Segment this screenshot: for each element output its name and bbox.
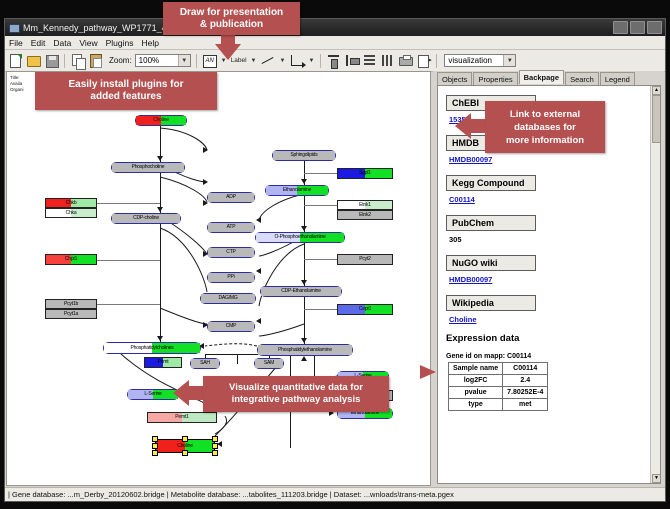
selection-handle[interactable] <box>182 436 188 442</box>
metabolite-node[interactable]: ATP <box>207 222 255 233</box>
callout-draw: Draw for presentation & publication <box>163 2 300 35</box>
line-chevron-down-icon[interactable]: ▼ <box>279 58 285 64</box>
node-label: Pcyt1a <box>64 312 78 317</box>
zoom-value: 100% <box>139 56 159 65</box>
open-folder-icon[interactable] <box>26 53 41 68</box>
scroll-down-icon[interactable]: ▼ <box>652 474 661 483</box>
gene-node[interactable]: Pemt1 <box>147 412 217 423</box>
side-panel: Objects Properties Backpage Search Legen… <box>433 71 664 486</box>
gene-node[interactable]: Chpt1 <box>45 254 97 265</box>
database-header: Wikipedia <box>446 295 536 311</box>
metabolite-node[interactable]: Phosphatidylethanolamine <box>257 344 353 356</box>
metabolite-node[interactable]: ADP <box>207 192 255 203</box>
backpage-scrollbar[interactable]: ▲ ▼ <box>650 86 660 483</box>
connector-cept1 <box>304 309 337 310</box>
tab-legend[interactable]: Legend <box>600 72 635 85</box>
toolbar-separator-4 <box>436 54 437 68</box>
gene-node[interactable]: Chka <box>45 208 97 218</box>
node-label: CTP <box>226 250 235 255</box>
close-button[interactable] <box>647 21 662 34</box>
node-label: Choline <box>153 118 169 123</box>
callout-link-text: Link to external databases for more info… <box>506 108 584 147</box>
visualization-value: visualization <box>448 56 492 65</box>
expression-data-heading: Expression data <box>446 333 651 344</box>
application-icon <box>8 22 19 33</box>
callout-draw-text: Draw for presentation & publication <box>180 7 283 31</box>
scrollbar-thumb[interactable] <box>652 95 661 143</box>
line-icon[interactable] <box>260 53 275 68</box>
node-label: ADP <box>226 195 236 200</box>
node-label: Phosphatidylethanolamine <box>278 348 332 353</box>
table-row: Sample nameC00114 <box>449 363 548 375</box>
arc-chevron-down-icon[interactable]: ▼ <box>308 58 314 64</box>
gene-node[interactable]: Pcyt1b <box>45 299 97 309</box>
selection-handle[interactable] <box>152 443 158 449</box>
callout-link-arrow <box>455 113 471 139</box>
metabolite-node[interactable]: CTP <box>207 247 255 258</box>
status-bar: | Gene database: ...m_Derby_20120602.bri… <box>5 487 665 501</box>
application-window: Mm_Kennedy_pathway_WP1771_45176.gpml Fil… <box>4 18 666 502</box>
node-label: ATP <box>227 225 236 230</box>
gene-node[interactable]: Sgpl1 <box>337 168 393 179</box>
callout-expression-arrow <box>420 365 436 379</box>
node-label: Pcyt1b <box>64 302 78 307</box>
gene-node[interactable]: Etnk1 <box>337 200 393 210</box>
node-label: Choline <box>177 444 193 449</box>
menu-data[interactable]: Data <box>53 38 71 48</box>
stack-rows-icon[interactable] <box>362 53 377 68</box>
node-label: Ethanolamine <box>283 188 311 193</box>
callout-visualize-arrow <box>173 380 189 406</box>
chevron-down-icon[interactable]: ▼ <box>178 55 190 66</box>
selection-handle[interactable] <box>152 450 158 456</box>
metabolite-node[interactable]: DAG/MG <box>200 293 256 304</box>
node-label: DAG/MG <box>218 296 237 301</box>
gene-node[interactable]: Pcyt1a <box>45 309 97 319</box>
tab-objects[interactable]: Objects <box>437 72 472 85</box>
main-content: Title: Availa Organi <box>5 70 665 487</box>
node-label: Chka <box>66 211 77 216</box>
label-chevron-down-icon[interactable]: ▼ <box>251 58 257 64</box>
metabolite-node[interactable]: Phosphocholine <box>111 162 185 173</box>
menu-bar: File Edit Data View Plugins Help <box>5 36 665 50</box>
gene-id-line: Gene id on mapp: C00114 <box>446 353 651 360</box>
node-label: Etnk2 <box>359 213 371 218</box>
tab-properties[interactable]: Properties <box>473 72 517 85</box>
arrowhead <box>203 147 208 153</box>
toolbar-separator <box>64 54 65 68</box>
toolbar: Zoom: 100% ▼ AN ▼ Label ▼ ▼ ▼ <box>5 50 665 72</box>
arrowhead <box>157 336 163 341</box>
node-label: L-Serine <box>144 392 161 397</box>
new-file-icon[interactable] <box>8 53 23 68</box>
arrowhead <box>301 179 307 184</box>
gene-node[interactable]: Chkb <box>45 198 97 208</box>
expression-row-value: 7.80252E-4 <box>503 387 548 399</box>
connector-chpt1 <box>97 260 160 261</box>
screenshot-root: Mm_Kennedy_pathway_WP1771_45176.gpml Fil… <box>0 0 670 509</box>
database-header: NuGO wiki <box>446 255 536 271</box>
copy-icon[interactable] <box>70 53 85 68</box>
expression-row-label: pvalue <box>449 387 503 399</box>
gene-node[interactable]: Pcyt2 <box>337 254 393 265</box>
info-organism: Organi <box>10 87 24 93</box>
metabolite-node[interactable]: Choline <box>135 115 187 126</box>
stack-columns-icon[interactable] <box>380 53 395 68</box>
expression-row-label: type <box>449 399 503 411</box>
scroll-up-icon[interactable]: ▲ <box>652 86 661 95</box>
metabolite-node[interactable]: Ethanolamine <box>265 185 329 196</box>
metabolite-node[interactable]: Phosphatidylcholines <box>103 342 201 354</box>
database-link[interactable]: HMDB00097 <box>449 155 651 164</box>
node-label: Chkb <box>66 201 77 206</box>
database-header: PubChem <box>446 215 536 231</box>
selection-handle[interactable] <box>212 450 218 456</box>
pathway-drawing[interactable]: Title: Availa Organi <box>7 72 430 485</box>
menu-help[interactable]: Help <box>142 38 159 48</box>
maximize-button[interactable] <box>630 21 645 34</box>
callout-plugins-text: Easily install plugins for added feature… <box>68 79 183 103</box>
expression-row-value: C00114 <box>503 363 548 375</box>
node-label: Pemt <box>158 360 169 365</box>
node-label: CDP-choline <box>133 216 159 221</box>
arrowhead <box>301 356 307 361</box>
selection-handle[interactable] <box>152 436 158 442</box>
metabolite-node[interactable]: Sphingolipids <box>272 150 336 161</box>
align-center-icon[interactable] <box>326 53 341 68</box>
node-label: Sphingolipids <box>290 153 317 158</box>
callout-visualize: Visualize quantitative data for integrat… <box>203 376 389 412</box>
selection-handle[interactable] <box>212 443 218 449</box>
connector-sgpl1 <box>304 173 337 174</box>
node-label: Sgpl1 <box>359 171 371 176</box>
node-label: O-Phosphoethanolamine <box>274 235 325 240</box>
arc-icon[interactable] <box>289 53 304 68</box>
node-label: Etnk1 <box>359 203 371 208</box>
metabolite-node[interactable]: SAH <box>190 358 220 369</box>
node-label: CDP-Ethanolamine <box>281 289 321 294</box>
expression-row-value: met <box>503 399 548 411</box>
menu-plugins[interactable]: Plugins <box>106 38 134 48</box>
database-link[interactable]: HMDB00097 <box>449 275 651 284</box>
paste-icon[interactable] <box>88 53 103 68</box>
gene-node[interactable]: Cept1 <box>337 304 393 315</box>
connector-etnk <box>304 205 337 206</box>
save-icon[interactable] <box>44 53 59 68</box>
node-label: CMP <box>226 324 237 329</box>
callout-visualize-text: Visualize quantitative data for integrat… <box>229 382 363 406</box>
minimize-button[interactable] <box>613 21 628 34</box>
callout-plugins: Easily install plugins for added feature… <box>35 72 217 110</box>
node-label: SAH <box>200 361 210 366</box>
title-bar: Mm_Kennedy_pathway_WP1771_45176.gpml <box>5 19 665 36</box>
table-row: pvalue7.80252E-4 <box>449 387 548 399</box>
expression-row-value: 2.4 <box>503 375 548 387</box>
database-value: 305 <box>449 235 651 244</box>
menu-edit[interactable]: Edit <box>31 38 46 48</box>
metabolite-node[interactable]: L-Serine <box>127 389 179 400</box>
zoom-label: Zoom: <box>109 56 132 65</box>
visualization-chevron-down-icon[interactable]: ▼ <box>503 55 515 66</box>
node-label: Phosphocholine <box>132 165 165 170</box>
connector-chk <box>97 203 160 204</box>
menu-view[interactable]: View <box>79 38 97 48</box>
table-row: typemet <box>449 399 548 411</box>
align-left-icon[interactable] <box>344 53 359 68</box>
expression-row-label: Sample name <box>449 363 503 375</box>
connector-pcyt2 <box>304 259 337 260</box>
arrowhead <box>256 217 261 223</box>
gene-node[interactable]: Pemt <box>144 357 182 368</box>
node-label: Phosphatidylcholines <box>131 346 174 351</box>
connector-pcyt1 <box>97 304 160 305</box>
callout-link-databases: Link to external databases for more info… <box>485 101 605 153</box>
expression-table: Sample nameC00114log2FC2.4pvalue7.80252E… <box>448 362 548 411</box>
metabolite-node[interactable]: CDP-Ethanolamine <box>260 286 342 297</box>
tab-backpage[interactable]: Backpage <box>519 70 564 84</box>
table-row: log2FC2.4 <box>449 375 548 387</box>
toolbar-separator-2 <box>196 54 197 68</box>
visualization-combobox[interactable]: visualization ▼ <box>444 54 516 67</box>
gene-node[interactable]: Etnk2 <box>337 210 393 220</box>
database-link[interactable]: C00114 <box>449 195 651 204</box>
node-label: Chpt1 <box>65 257 77 262</box>
node-label: SAM <box>264 361 274 366</box>
tab-search[interactable]: Search <box>565 72 599 85</box>
metabolite-node[interactable]: PPi <box>207 272 255 283</box>
arrowhead <box>256 268 261 274</box>
expression-row-label: log2FC <box>449 375 503 387</box>
metabolite-node[interactable]: O-Phosphoethanolamine <box>255 232 345 243</box>
side-panel-tabs: Objects Properties Backpage Search Legen… <box>433 71 664 85</box>
arrowhead <box>256 318 261 324</box>
metabolite-node[interactable]: CMP <box>207 321 255 332</box>
pathway-info-block: Title: Availa Organi <box>10 75 24 93</box>
metabolite-node[interactable]: CDP-choline <box>111 213 181 224</box>
export-icon[interactable] <box>416 53 431 68</box>
window-controls[interactable] <box>613 21 662 34</box>
database-link[interactable]: Choline <box>449 315 651 324</box>
toolbar-separator-3 <box>320 54 321 68</box>
callout-draw-arrow <box>215 44 241 60</box>
node-label: Pemt1 <box>175 415 188 420</box>
database-header: Kegg Compound <box>446 175 536 191</box>
print-icon[interactable] <box>398 53 413 68</box>
menu-file[interactable]: File <box>9 38 23 48</box>
node-label: PPi <box>227 275 234 280</box>
selection-handle[interactable] <box>182 450 188 456</box>
node-label: Cept1 <box>359 307 371 312</box>
status-text: | Gene database: ...m_Derby_20120602.bri… <box>5 490 454 499</box>
zoom-combobox[interactable]: 100% ▼ <box>135 54 191 67</box>
metabolite-node[interactable]: SAM <box>254 358 284 369</box>
pathway-canvas[interactable]: Title: Availa Organi <box>6 71 431 486</box>
node-label: Pcyt2 <box>359 257 371 262</box>
selection-handle[interactable] <box>212 436 218 442</box>
